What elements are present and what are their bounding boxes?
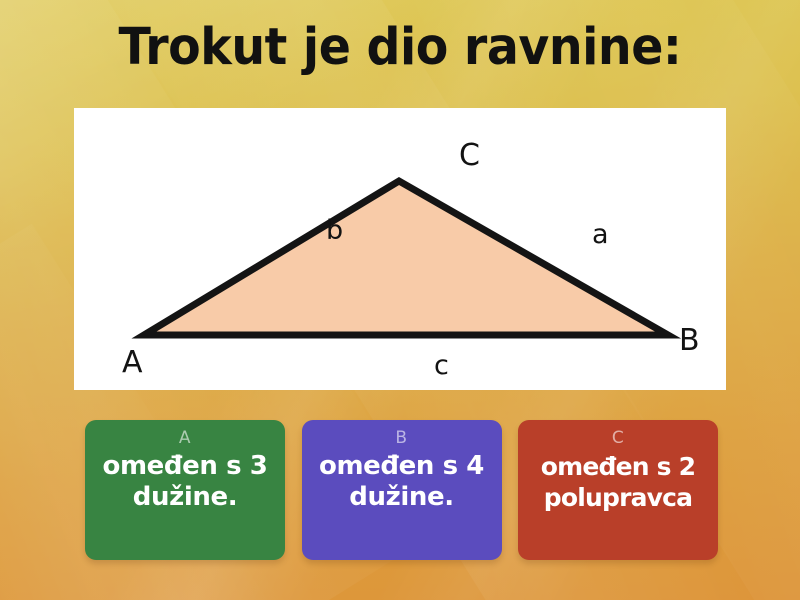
answer-text-b: omeđen s 4 dužine. [308, 451, 496, 554]
side-label-a: a [592, 220, 609, 250]
side-label-c: c [434, 351, 449, 381]
answer-letter-b: B [395, 428, 407, 448]
question-image-panel: C A B b a c [74, 108, 726, 390]
side-label-b: b [326, 216, 343, 246]
vertex-label-b: B [679, 326, 700, 356]
quiz-screen: Trokut je dio ravnine: C A B b a c A ome… [0, 0, 800, 600]
vertex-label-c: C [459, 141, 480, 171]
answer-letter-a: A [179, 428, 191, 448]
question-title: Trokut je dio ravnine: [28, 16, 772, 80]
answer-option-a[interactable]: A omeđen s 3 dužine. [85, 420, 285, 560]
triangle-shape [144, 181, 668, 335]
answer-options: A omeđen s 3 dužine. B omeđen s 4 dužine… [85, 420, 718, 560]
triangle-diagram [74, 108, 726, 390]
answer-text-a: omeđen s 3 dužine. [91, 451, 279, 554]
answer-option-b[interactable]: B omeđen s 4 dužine. [302, 420, 502, 560]
vertex-label-a: A [122, 348, 143, 378]
answer-letter-c: C [612, 428, 624, 448]
answer-text-c: omeđen s 2 polupravca [524, 451, 712, 554]
answer-option-c[interactable]: C omeđen s 2 polupravca [518, 420, 718, 560]
